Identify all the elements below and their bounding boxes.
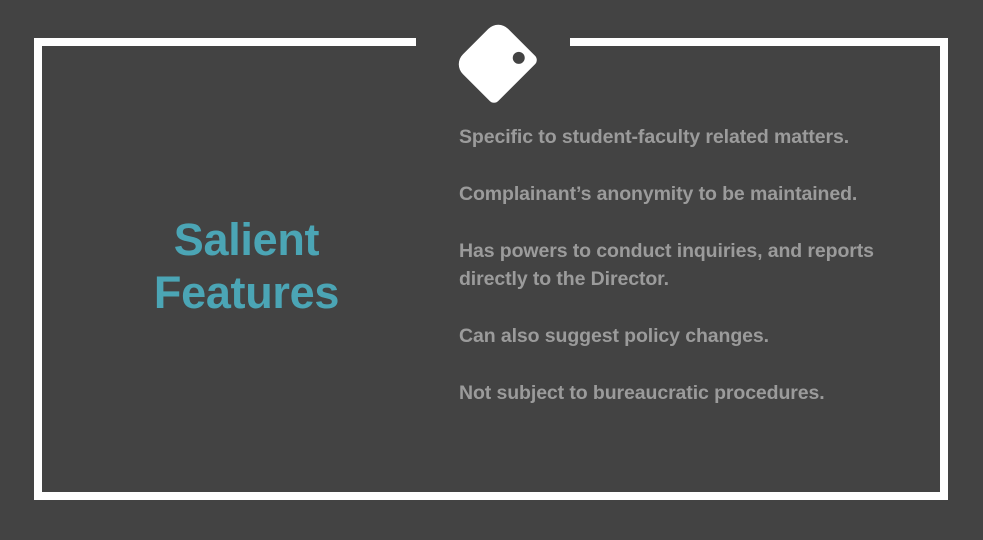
list-item: Not subject to bureaucratic procedures. (459, 379, 877, 407)
slide: Salient Features Specific to student-fac… (0, 0, 983, 540)
title-column: Salient Features (34, 38, 459, 500)
slide-content: Salient Features Specific to student-fac… (34, 38, 948, 500)
list-item: Complainant’s anonymity to be maintained… (459, 180, 877, 208)
page-title: Salient Features (154, 213, 339, 319)
list-item: Has powers to conduct inquiries, and rep… (459, 237, 877, 293)
features-list: Specific to student-faculty related matt… (459, 38, 948, 500)
list-item: Specific to student-faculty related matt… (459, 123, 877, 151)
list-item: Can also suggest policy changes. (459, 322, 877, 350)
